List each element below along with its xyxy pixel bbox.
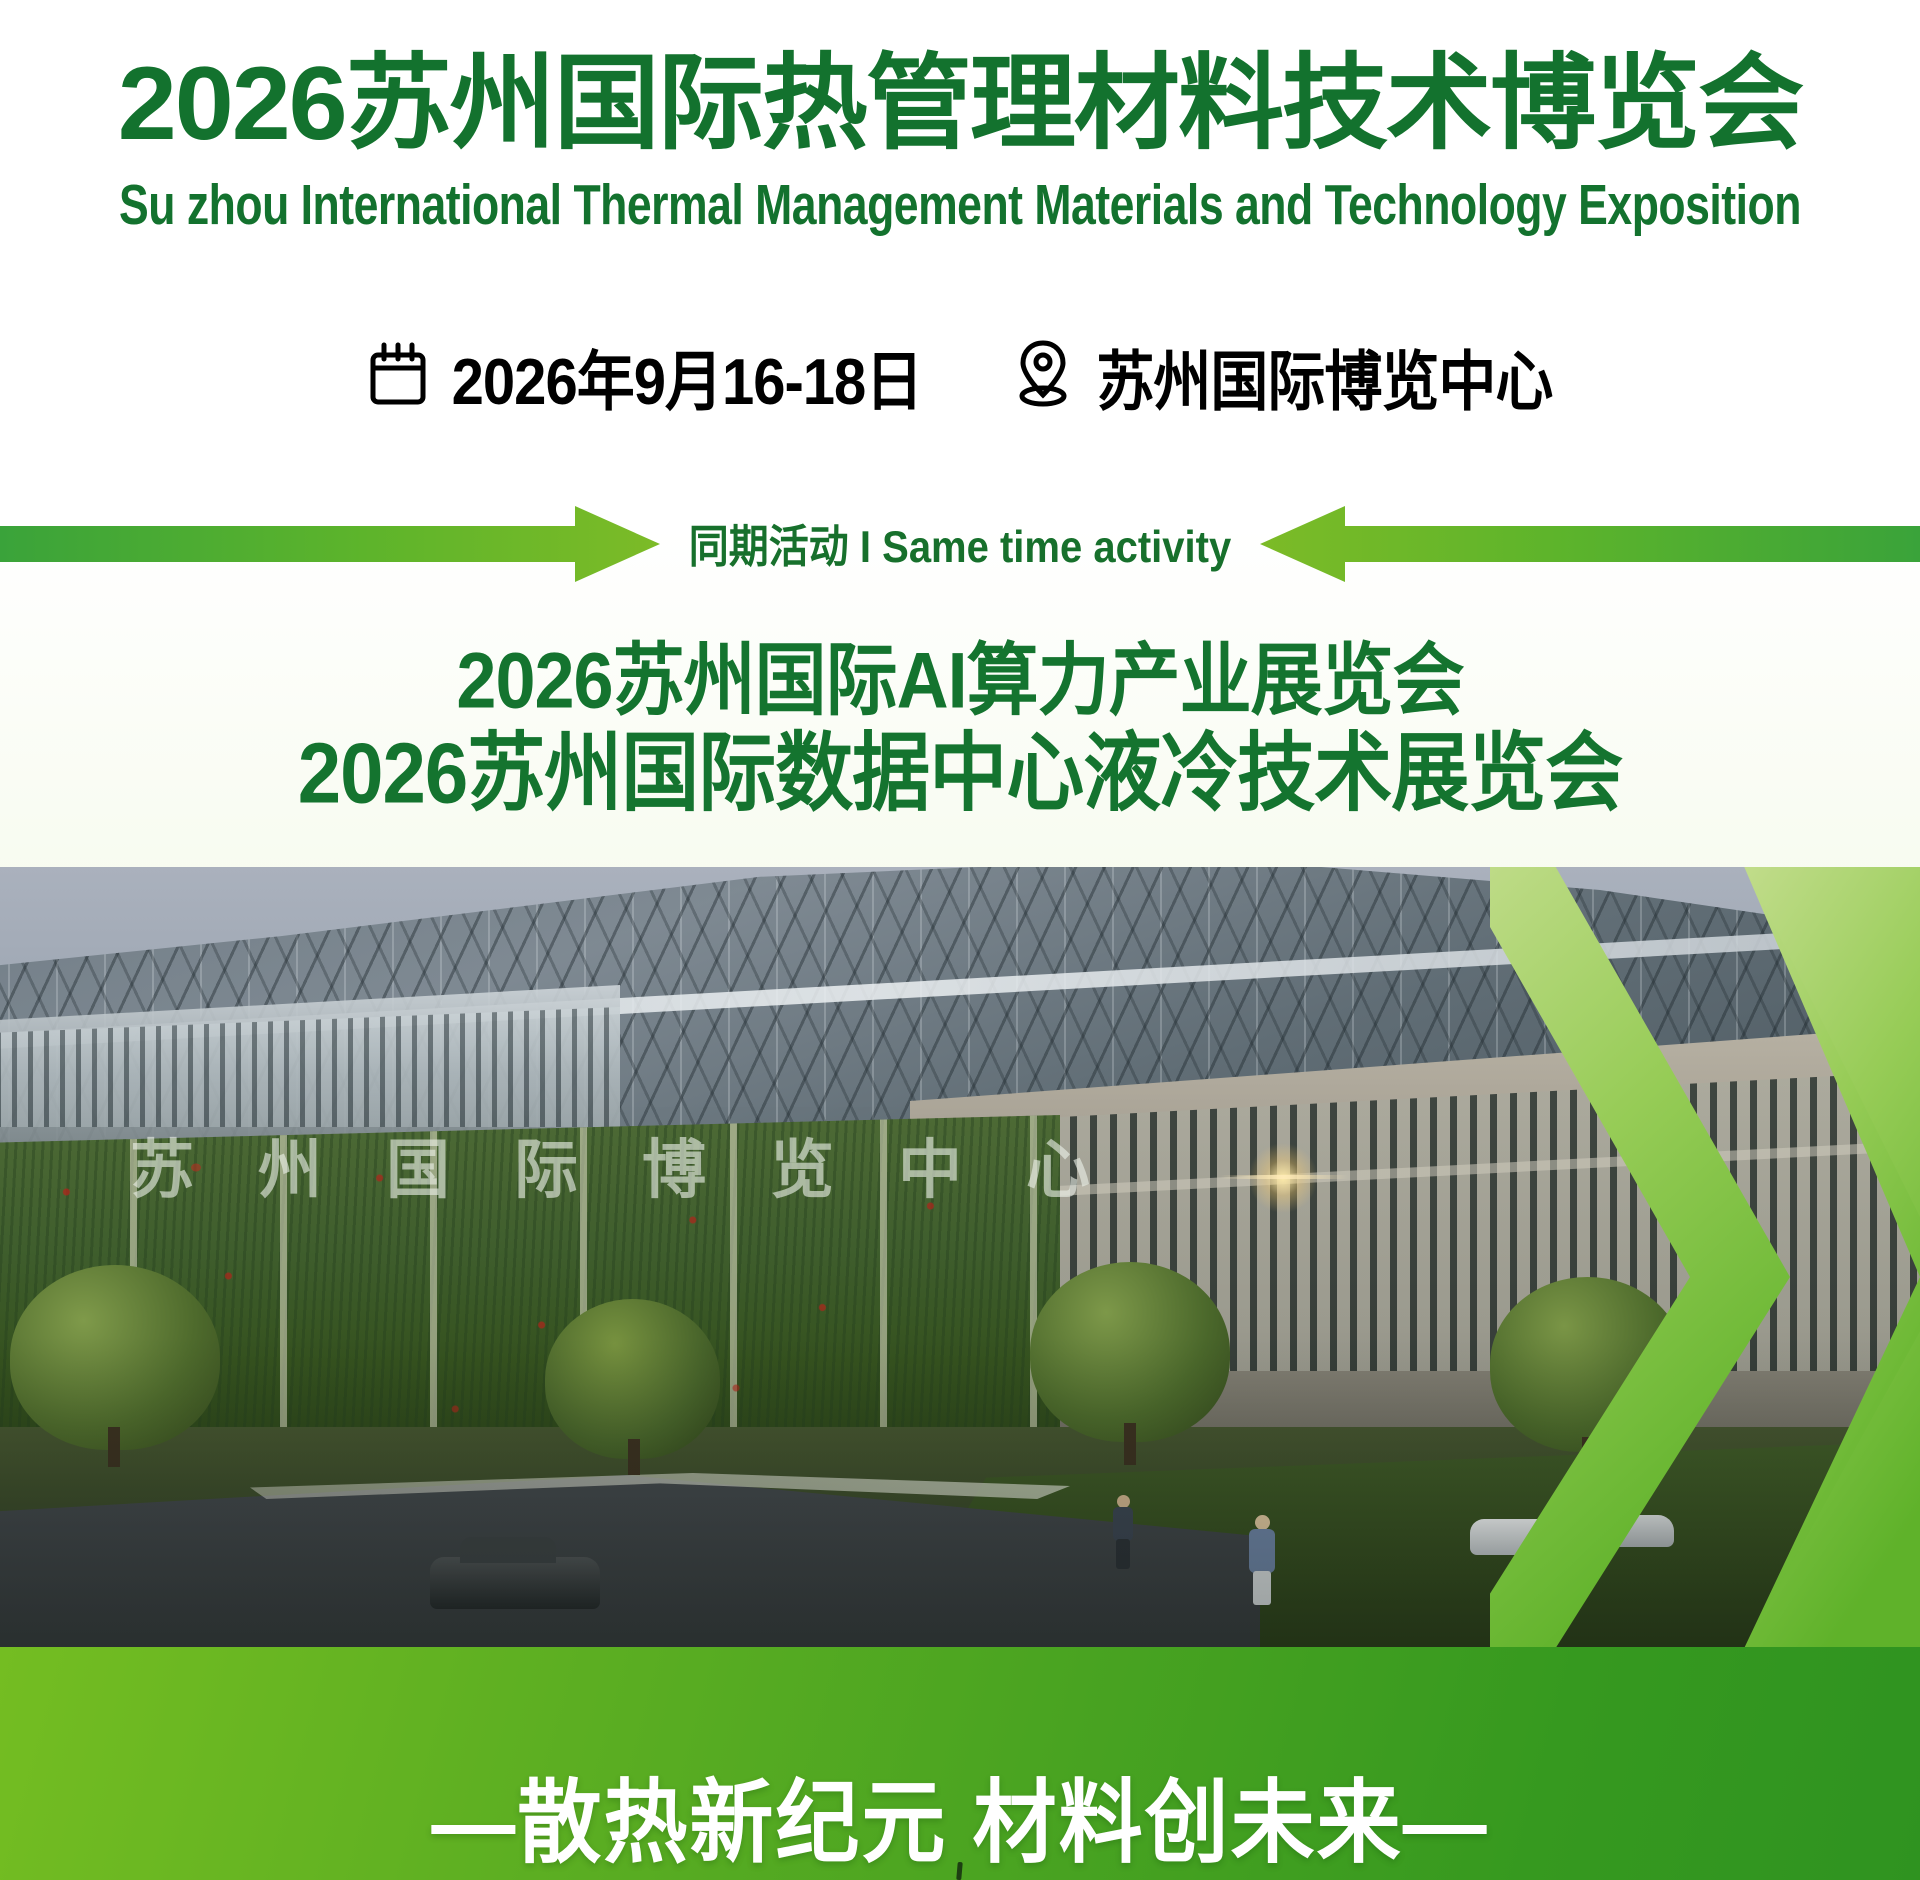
page-title-en: Su zhou International Thermal Management… (10, 174, 1911, 236)
event-location-text: 苏州国际博览中心 (1096, 329, 1552, 423)
photo-tree-trunk (1582, 1437, 1594, 1477)
event-date-text: 2026年9月16-18日 (452, 329, 923, 423)
sub-exhibition-2: 2026苏州国际数据中心液冷技术展览会 (0, 721, 1920, 826)
sub-exhibition-list: 2026苏州国际AI算力产业展览会 2026苏州国际数据中心液冷技术展览会 (0, 638, 1920, 821)
photo-tree-trunk (108, 1427, 120, 1467)
event-location-item: 苏州国际博览中心 (1014, 334, 1552, 418)
photo-pedestrian (1110, 1495, 1136, 1569)
calendar-icon (368, 341, 428, 412)
poster-root: 2026苏州国际热管理材料技术博览会 Su zhou International… (0, 0, 1920, 1880)
photo-tree (1490, 1277, 1685, 1452)
photo-car (430, 1557, 600, 1609)
page-title-cn: 2026苏州国际热管理材料技术博览会 (0, 48, 1920, 160)
photo-tree (1030, 1262, 1230, 1442)
photo-tree-trunk (1124, 1423, 1136, 1465)
photo-street-lamp (1560, 1487, 1614, 1541)
poster-header: 2026苏州国际热管理材料技术博览会 Su zhou International… (0, 0, 1920, 224)
photo-tree (10, 1265, 220, 1450)
banner-label: 同期活动 I Same time activity (0, 495, 1920, 591)
same-time-activity-banner: 同期活动 I Same time activity (0, 500, 1920, 586)
sub-exhibition-1: 2026苏州国际AI算力产业展览会 (0, 634, 1920, 731)
footer-slogan: —散热新纪元 材料创未来— (0, 1750, 1920, 1880)
map-pin-icon (1014, 339, 1072, 414)
venue-photo (0, 867, 1920, 1647)
photo-facade-light (1248, 1143, 1318, 1213)
photo-pedestrian (1245, 1515, 1279, 1603)
event-date-item: 2026年9月16-18日 (368, 334, 923, 418)
photo-tree-trunk (628, 1439, 640, 1475)
event-meta-row: 2026年9月16-18日 苏州国际博览中心 (0, 334, 1920, 418)
photo-tree (545, 1299, 720, 1459)
